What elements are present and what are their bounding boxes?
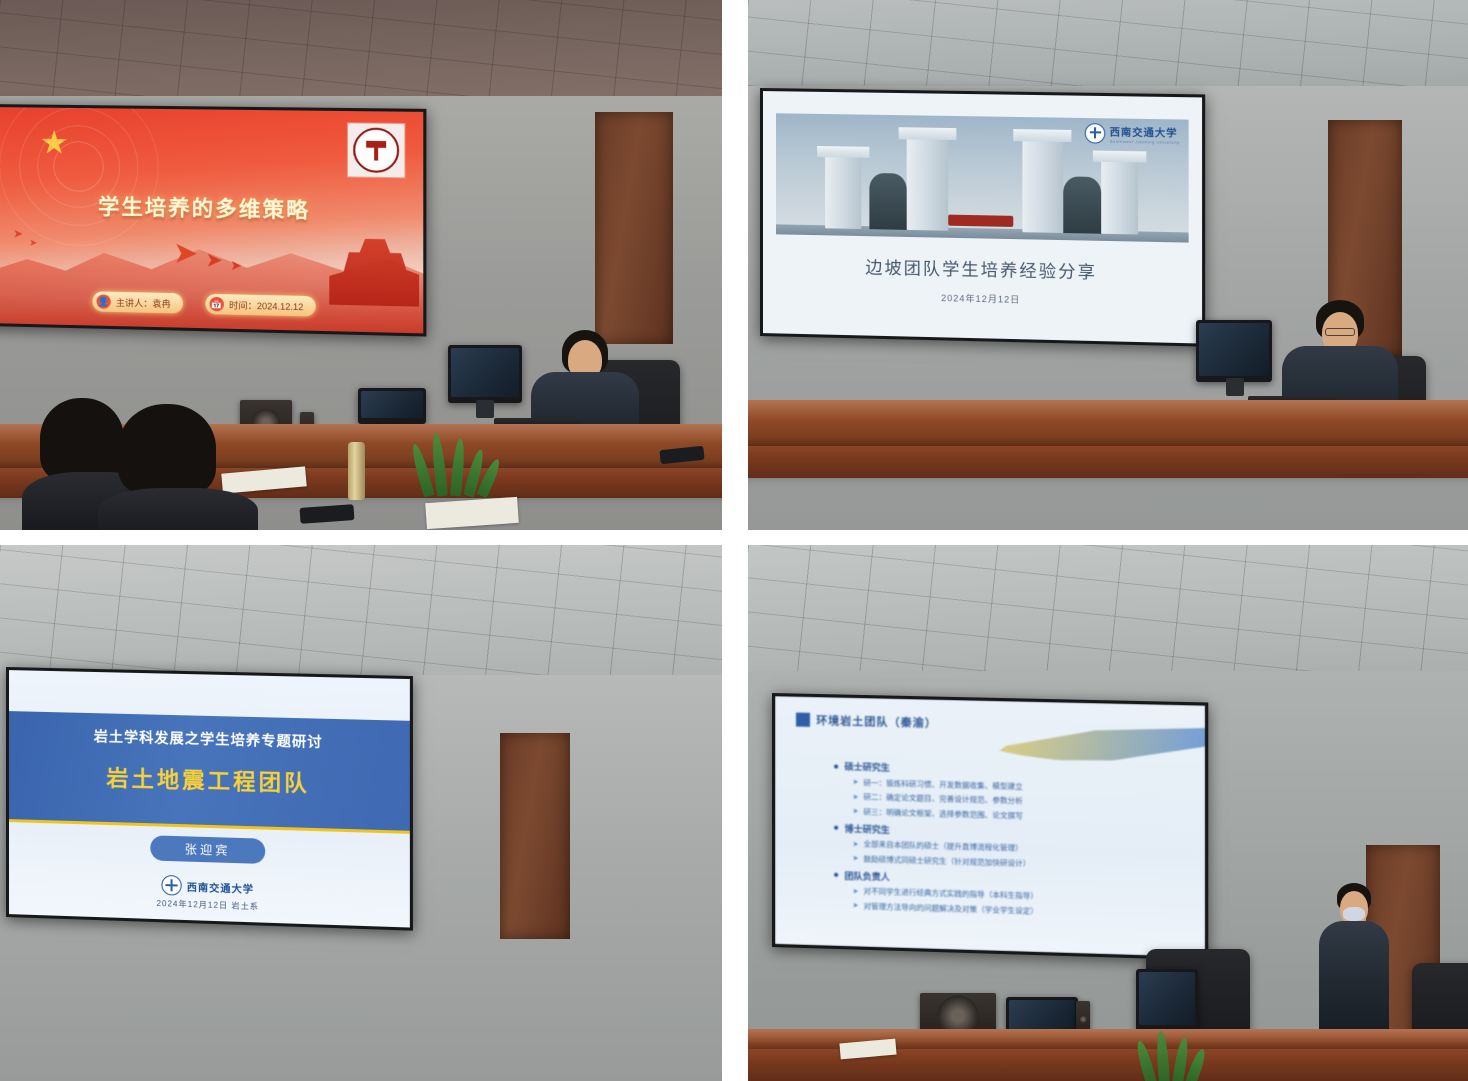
item-text: 研二：确定论文题目、完善设计规范、参数分析 (863, 791, 1022, 806)
gate-pillar-cap (1093, 151, 1147, 163)
projected-slide-3: 岩土学科发展之学生培养专题研讨 岩土地震工程团队 张迎宾 西南交通大学 2024… (9, 670, 410, 927)
bird-icon: ➤ (13, 227, 23, 239)
gate-name-plaque (948, 214, 1014, 226)
gate-pillar-cap (817, 146, 870, 158)
university-crest-icon (161, 875, 181, 896)
gate-pillar (1101, 160, 1139, 234)
slide-title: 边坡团队学生培养经验分享 (763, 251, 1202, 286)
item-text: 研三：明确论文框架、选择参数范围、论文撰写 (863, 806, 1022, 821)
photo-panel-top-left: ➤ ➤ ➤ ➤ ➤ 学生培养的多维策略 👤 (0, 0, 722, 530)
chevron-right-icon: ➤ (853, 901, 859, 909)
item-text: 对不同学生进行经典方式实践的指导（本科生指导） (863, 886, 1038, 902)
table-reflection (748, 400, 1468, 421)
bird-icon: ➤ (205, 250, 222, 271)
slide-header: 环境岩土团队（秦渝） (796, 711, 937, 730)
presenter-pill: 👤 主讲人：袁冉 (92, 291, 182, 313)
speaker-name-badge: 张迎宾 (150, 835, 265, 864)
university-crest-icon (1085, 123, 1106, 144)
potted-plant (424, 430, 487, 496)
photo-panel-top-right: 西南交通大学 Southwest Jiaotong University 边坡团… (748, 0, 1468, 530)
projected-slide-4: 环境岩土团队（秦渝） 硕士研究生 ➤研一：锻炼科研习惯、开发数据收集、模型建立 … (775, 696, 1205, 957)
slide-navy-background: 岩土学科发展之学生培养专题研讨 岩土地震工程团队 张迎宾 西南交通大学 2024… (9, 670, 410, 927)
gate-pillar (825, 155, 862, 229)
desktop-monitor (1136, 969, 1198, 1031)
desktop-monitor (1196, 320, 1272, 382)
heading-text: 硕士研究生 (844, 760, 889, 774)
header-text: 环境岩土团队（秦渝） (816, 712, 937, 731)
bird-icon: ➤ (173, 238, 199, 269)
conference-room-scene: 岩土学科发展之学生培养专题研讨 岩土地震工程团队 张迎宾 西南交通大学 2024… (0, 545, 722, 1081)
university-name: 西南交通大学 (187, 878, 254, 895)
chevron-right-icon: ➤ (853, 887, 859, 895)
wooden-door (500, 733, 570, 939)
item-text: 鼓励硕博式同硕士研究生（针对规范加快研设计） (863, 853, 1030, 869)
conference-table-top (748, 400, 1468, 450)
university-seal-icon (348, 123, 404, 177)
conference-room-scene: 环境岩土团队（秦渝） 硕士研究生 ➤研一：锻炼科研习惯、开发数据收集、模型建立 … (748, 545, 1468, 1081)
projected-slide-1: ➤ ➤ ➤ ➤ ➤ 学生培养的多维策略 👤 (0, 107, 423, 333)
torso (1319, 921, 1389, 1041)
face-mask (1343, 907, 1365, 921)
eyeglasses-icon (1325, 328, 1355, 336)
wooden-door (595, 112, 673, 344)
computer-tower (358, 388, 426, 424)
photo-collage: ➤ ➤ ➤ ➤ ➤ 学生培养的多维策略 👤 (0, 0, 1468, 1081)
bird-icon: ➤ (230, 258, 242, 272)
slide-red-background: ➤ ➤ ➤ ➤ ➤ 学生培养的多维策略 👤 (0, 107, 423, 333)
chevron-right-icon: ➤ (853, 854, 859, 862)
projection-screen: 西南交通大学 Southwest Jiaotong University 边坡团… (760, 88, 1205, 347)
potted-plant (1146, 1031, 1196, 1081)
heading-text: 博士研究生 (844, 821, 889, 835)
chevron-right-icon: ➤ (853, 793, 859, 801)
person-icon: 👤 (97, 294, 111, 308)
presenter-label: 主讲人：袁冉 (116, 295, 171, 309)
slide-blue-background: 西南交通大学 Southwest Jiaotong University 边坡团… (763, 91, 1202, 344)
photo-panel-bottom-left: 岩土学科发展之学生培养专题研讨 岩土地震工程团队 张迎宾 西南交通大学 2024… (0, 545, 722, 1081)
monitor-stand (476, 400, 494, 418)
gate-pillar (1022, 139, 1063, 233)
gate-pillar-cap (898, 127, 956, 140)
conference-room-scene: ➤ ➤ ➤ ➤ ➤ 学生培养的多维策略 👤 (0, 0, 722, 530)
university-name: 西南交通大学 (1110, 123, 1180, 139)
gate-arch (1063, 176, 1100, 233)
chevron-right-icon: ➤ (853, 840, 859, 848)
projection-screen: 环境岩土团队（秦渝） 硕士研究生 ➤研一：锻炼科研习惯、开发数据收集、模型建立 … (772, 693, 1208, 960)
slide-date: 2024年12月12日 (763, 287, 1202, 310)
shoulders (98, 488, 258, 530)
date-pill: 📅 时间：2024.12.12 (205, 294, 315, 317)
audience-member (108, 404, 238, 530)
thermos-bottle (348, 442, 365, 500)
item-text: 研一：锻炼科研习惯、开发数据收集、模型建立 (863, 777, 1022, 792)
item-text: 全部来自本团队的硕士（提升直博流程化管理） (863, 838, 1022, 853)
calendar-icon: 📅 (210, 297, 224, 312)
bullet-list: 硕士研究生 ➤研一：锻炼科研习惯、开发数据收集、模型建立 ➤研二：确定论文题目、… (834, 755, 1183, 921)
desktop-monitor (448, 345, 522, 403)
photo-panel-bottom-right: 环境岩土团队（秦渝） 硕士研究生 ➤研一：锻炼科研习惯、开发数据收集、模型建立 … (748, 545, 1468, 1081)
conference-room-scene: 西南交通大学 Southwest Jiaotong University 边坡团… (748, 0, 1468, 530)
conference-table-front (748, 446, 1468, 478)
monitor-stand (1226, 378, 1244, 396)
projection-screen: ➤ ➤ ➤ ➤ ➤ 学生培养的多维策略 👤 (0, 104, 426, 337)
head-back-view (118, 404, 216, 496)
university-logo: 西南交通大学 (161, 875, 254, 898)
date-label: 时间：2024.12.12 (229, 298, 303, 313)
chevron-right-icon: ➤ (853, 778, 859, 786)
slide-date: 2024年12月12日 岩土系 (9, 893, 410, 917)
slide-content-background: 环境岩土团队（秦渝） 硕士研究生 ➤研一：锻炼科研习惯、开发数据收集、模型建立 … (775, 696, 1205, 957)
projection-screen: 岩土学科发展之学生培养专题研讨 岩土地震工程团队 张迎宾 西南交通大学 2024… (6, 667, 413, 931)
university-logo: 西南交通大学 Southwest Jiaotong University (1085, 123, 1180, 145)
bird-icon: ➤ (29, 239, 37, 249)
gate-pillar (907, 137, 948, 230)
gate-pillar-cap (1014, 129, 1072, 142)
chevron-right-icon: ➤ (853, 807, 859, 815)
projected-slide-2: 西南交通大学 Southwest Jiaotong University 边坡团… (763, 91, 1202, 344)
gate-arch (870, 173, 907, 230)
item-text: 对管理方法导向的问题解决及对策（学业学生设定） (863, 900, 1038, 916)
header-marker-icon (796, 712, 810, 726)
heading-text: 团队负责人 (844, 869, 889, 883)
